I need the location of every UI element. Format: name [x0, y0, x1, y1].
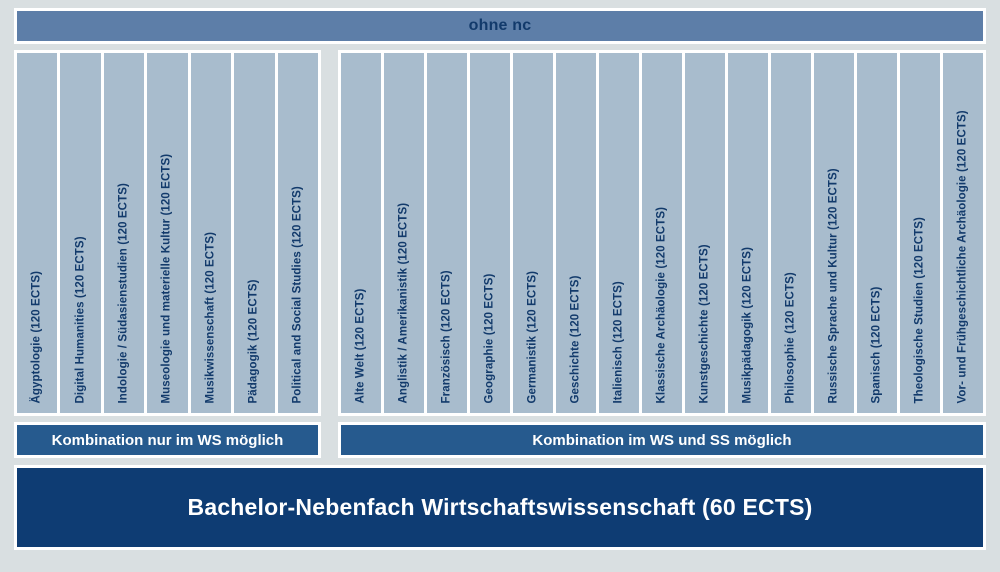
caption-left-label: Kombination nur im WS möglich — [52, 432, 284, 449]
subject-column-label: Philosophie (120 ECTS) — [785, 272, 797, 403]
caption-bar-right: Kombination im WS und SS möglich — [338, 422, 986, 458]
header-bar-label: ohne nc — [469, 17, 532, 35]
subject-column-label: Kunstgeschichte (120 ECTS) — [699, 244, 711, 403]
subject-column-label: Ägyptologie (120 ECTS) — [31, 270, 43, 403]
subject-column[interactable]: Germanistik (120 ECTS) — [513, 53, 553, 413]
subject-column[interactable]: Geographie (120 ECTS) — [470, 53, 510, 413]
subject-column[interactable]: Französisch (120 ECTS) — [427, 53, 467, 413]
left-column-group: Ägyptologie (120 ECTS)Digital Humanities… — [14, 50, 321, 416]
subject-column[interactable]: Museologie und materielle Kultur (120 EC… — [147, 53, 187, 413]
subject-column-label: Political and Social Studies (120 ECTS) — [292, 186, 304, 403]
subject-column-label: Musikpädagogik (120 ECTS) — [742, 246, 754, 403]
subject-column[interactable]: Geschichte (120 ECTS) — [556, 53, 596, 413]
columns-region: Ägyptologie (120 ECTS)Digital Humanities… — [14, 50, 986, 416]
subject-column[interactable]: Musikwissenschaft (120 ECTS) — [191, 53, 231, 413]
subject-column[interactable]: Vor- und Frühgeschichtliche Archäologie … — [943, 53, 983, 413]
subject-column[interactable]: Musikpädagogik (120 ECTS) — [728, 53, 768, 413]
footer-bar-major-program: Bachelor-Nebenfach Wirtschaftswissenscha… — [14, 465, 986, 550]
subject-column[interactable]: Ägyptologie (120 ECTS) — [17, 53, 57, 413]
subject-column-label: Anglistik / Amerikanistik (120 ECTS) — [398, 202, 410, 403]
subject-column[interactable]: Alte Welt (120 ECTS) — [341, 53, 381, 413]
subject-column[interactable]: Political and Social Studies (120 ECTS) — [278, 53, 318, 413]
program-combination-diagram: ohne nc Ägyptologie (120 ECTS)Digital Hu… — [0, 0, 1000, 572]
subject-column[interactable]: Theologische Studien (120 ECTS) — [900, 53, 940, 413]
subject-column-label: Geschichte (120 ECTS) — [570, 275, 582, 403]
subject-column-label: Französisch (120 ECTS) — [441, 270, 453, 403]
subject-column[interactable]: Philosophie (120 ECTS) — [771, 53, 811, 413]
subject-column-label: Indologie / Südasienstudien (120 ECTS) — [118, 183, 130, 403]
subject-column-label: Theologische Studien (120 ECTS) — [914, 217, 926, 404]
subject-column[interactable]: Anglistik / Amerikanistik (120 ECTS) — [384, 53, 424, 413]
group-separator — [321, 50, 338, 416]
subject-column-label: Pädagogik (120 ECTS) — [249, 279, 261, 403]
subject-column-label: Spanisch (120 ECTS) — [871, 286, 883, 403]
subject-column-label: Alte Welt (120 ECTS) — [355, 288, 367, 403]
subject-column-label: Museologie und materielle Kultur (120 EC… — [162, 153, 174, 403]
header-bar-ohne-nc: ohne nc — [14, 8, 986, 44]
subject-column-label: Musikwissenschaft (120 ECTS) — [205, 231, 217, 403]
caption-separator — [321, 422, 338, 458]
subject-column-label: Vor- und Frühgeschichtliche Archäologie … — [957, 110, 969, 403]
subject-column-label: Digital Humanities (120 ECTS) — [75, 236, 87, 403]
right-column-group: Alte Welt (120 ECTS)Anglistik / Amerikan… — [338, 50, 986, 416]
subject-column[interactable]: Pädagogik (120 ECTS) — [234, 53, 274, 413]
subject-column[interactable]: Italienisch (120 ECTS) — [599, 53, 639, 413]
subject-column[interactable]: Klassische Archäologie (120 ECTS) — [642, 53, 682, 413]
caption-right-label: Kombination im WS und SS möglich — [532, 432, 791, 449]
captions-region: Kombination nur im WS möglich Kombinatio… — [14, 422, 986, 458]
subject-column-label: Russische Sprache und Kultur (120 ECTS) — [828, 168, 840, 403]
footer-bar-label: Bachelor-Nebenfach Wirtschaftswissenscha… — [188, 494, 813, 521]
subject-column[interactable]: Spanisch (120 ECTS) — [857, 53, 897, 413]
caption-bar-left: Kombination nur im WS möglich — [14, 422, 321, 458]
subject-column-label: Italienisch (120 ECTS) — [613, 281, 625, 403]
subject-column-label: Geographie (120 ECTS) — [484, 273, 496, 403]
subject-column[interactable]: Digital Humanities (120 ECTS) — [60, 53, 100, 413]
subject-column[interactable]: Russische Sprache und Kultur (120 ECTS) — [814, 53, 854, 413]
subject-column-label: Germanistik (120 ECTS) — [527, 270, 539, 403]
subject-column-label: Klassische Archäologie (120 ECTS) — [656, 206, 668, 403]
subject-column[interactable]: Indologie / Südasienstudien (120 ECTS) — [104, 53, 144, 413]
subject-column[interactable]: Kunstgeschichte (120 ECTS) — [685, 53, 725, 413]
